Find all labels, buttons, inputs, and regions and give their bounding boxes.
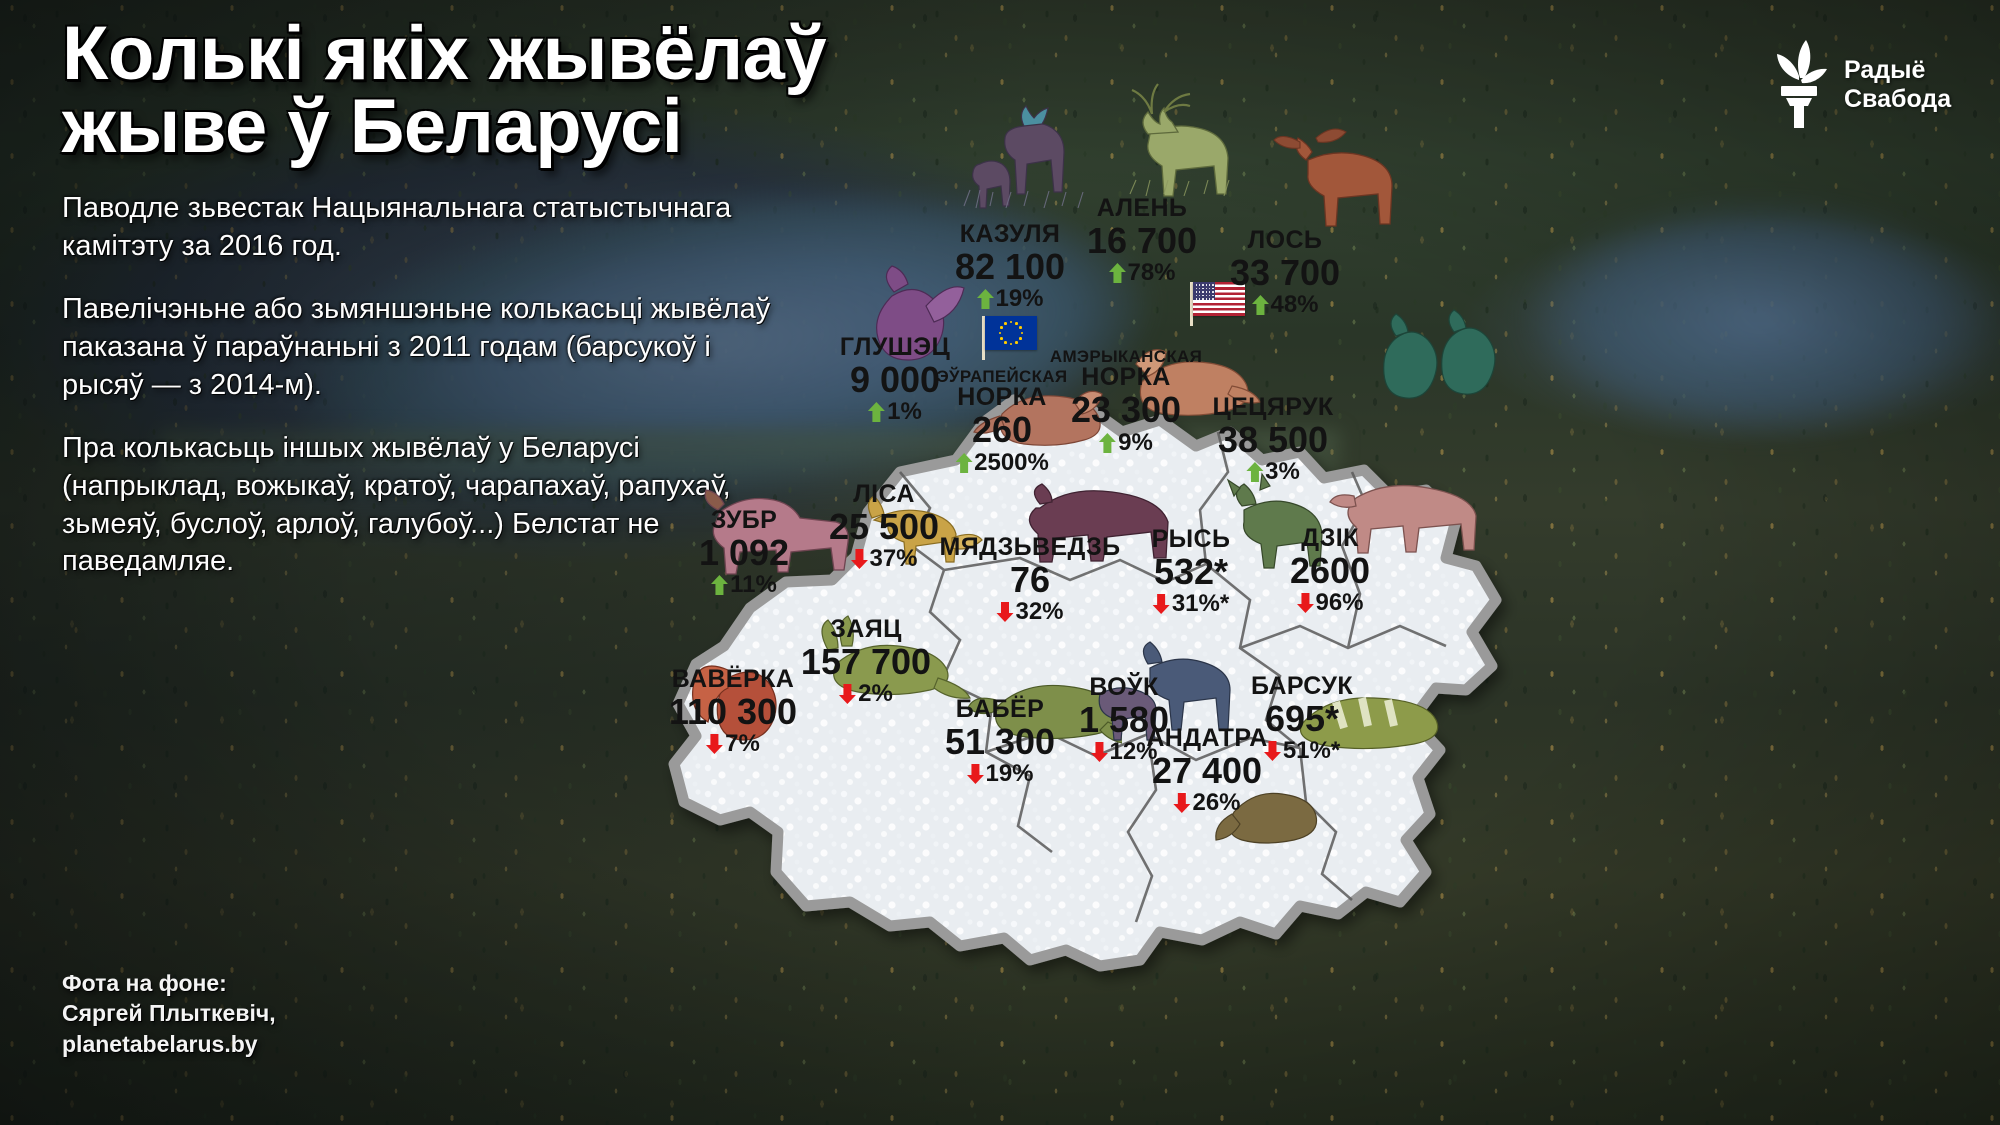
animal-count: 2600 [1290,553,1370,590]
animal-change: 3% [1212,460,1333,484]
arrow-down-icon [1296,593,1313,613]
credit-line-1: Фота на фоне: [62,968,582,998]
animal-name: МЯДЗЬВЕДЗЬ [939,535,1120,561]
animal-label-vavyorka: ВАВЁРКА110 3007% [669,667,797,757]
animal-name: ЗАЯЦ [801,617,931,643]
credit-line-3: planetabelarus.by [62,1029,582,1059]
animal-change-value: 2% [858,682,893,706]
animal-name: АНДАТРА [1146,726,1267,752]
animal-change-value: 3% [1265,460,1300,484]
animal-count: 157 700 [801,644,931,681]
animal-change: 78% [1087,261,1197,285]
animal-name: ГЛУШЭЦ [840,335,950,361]
animal-count: 110 300 [669,694,797,731]
animal-change: 32% [939,600,1120,624]
animal-count: 532* [1152,554,1231,591]
animal-name: ЛІСА [829,482,939,508]
animal-change-value: 37% [869,547,917,571]
credit-line-2: Сяргей Плыткевіч, [62,998,582,1028]
animal-count: 38 500 [1212,422,1333,459]
animal-change: 9% [1050,431,1202,455]
animal-change: 2% [801,682,931,706]
arrow-up-icon [1246,462,1263,482]
animal-label-barsuk: БАРСУК695*51%* [1251,674,1353,764]
photo-credit: Фота на фоне: Сяргей Плыткевіч, planetab… [62,968,582,1059]
animal-change-value: 19% [985,762,1033,786]
animal-count: 9 000 [840,362,950,399]
animal-count: 16 700 [1087,223,1197,260]
animal-count: 27 400 [1146,753,1267,790]
arrow-down-icon [1264,741,1281,761]
animal-change: 51%* [1251,739,1353,763]
animal-change-value: 26% [1192,791,1240,815]
infographic-canvas: Колькі якіх жывёлаў жыве ў Беларусі Паво… [0,0,2000,1125]
arrow-up-icon [1099,433,1116,453]
animal-label-lisa: ЛІСА25 50037% [829,482,939,572]
animal-change-value: 51%* [1283,739,1340,763]
animal-label-los: ЛОСЬ33 70048% [1230,228,1340,318]
animal-label-zubr: ЗУБР1 09211% [699,508,789,598]
animal-label-norka-eu: ЭЎРАПЕЙСКАЯНОРКА2602500% [937,368,1068,475]
animal-name: ЛОСЬ [1230,228,1340,254]
animal-name: ЦЕЦЯРУК [1212,395,1333,421]
animal-change-value: 78% [1127,261,1175,285]
animal-change: 2500% [937,451,1068,475]
animal-label-hlushets: ГЛУШЭЦ9 0001% [840,335,950,425]
arrow-down-icon [996,602,1013,622]
animal-change-value: 7% [725,732,760,756]
animal-change: 48% [1230,293,1340,317]
animal-name: БАБЁР [945,697,1055,723]
animal-change-value: 11% [730,573,777,597]
animal-name: ВОЎК [1079,675,1169,701]
animal-change: 96% [1290,591,1370,615]
animal-count: 51 300 [945,724,1055,761]
animal-change: 11% [699,573,789,597]
arrow-down-icon [850,549,867,569]
headline-line-2: жыве ў Беларусі [62,84,682,169]
arrow-up-icon [1108,263,1125,283]
animal-label-kazulya: КАЗУЛЯ82 10019% [955,222,1065,312]
arrow-up-icon [976,289,993,309]
animal-change: 7% [669,732,797,756]
animal-change-value: 31%* [1172,592,1229,616]
animal-name: ДЗІК [1290,526,1370,552]
roe-deer-illustration [928,86,1108,226]
animal-change: 26% [1146,791,1267,815]
arrow-down-icon [1153,594,1170,614]
animal-count: 33 700 [1230,255,1340,292]
animal-change: 19% [955,287,1065,311]
animal-change-value: 1% [887,400,922,424]
arrow-down-icon [706,734,723,754]
animal-count: 695* [1251,701,1353,738]
animal-change: 37% [829,547,939,571]
arrow-down-icon [839,684,856,704]
animal-label-andatra: АНДАТРА27 40026% [1146,726,1267,816]
animal-label-norka-us: АМЭРЫКАНСКАЯНОРКА23 3009% [1050,348,1202,455]
animal-name: БАРСУК [1251,674,1353,700]
animal-label-tsetseruk: ЦЕЦЯРУК38 5003% [1212,395,1333,485]
animal-name: ЗУБР [699,508,789,534]
animal-name: РЫСЬ [1152,527,1231,553]
animal-name: ВАВЁРКА [669,667,797,693]
animal-count: 76 [939,562,1120,599]
arrow-down-icon [1090,742,1107,762]
animal-label-myadzvedz: МЯДЗЬВЕДЗЬ7632% [939,535,1120,625]
animal-change-value: 9% [1118,431,1153,455]
animal-change: 1% [840,400,950,424]
animal-change-value: 2500% [974,451,1049,475]
animal-label-babyor: БАБЁР51 30019% [945,697,1055,787]
animal-name: НОРКА [1050,365,1202,391]
arrow-down-icon [1173,793,1190,813]
animal-label-rys: РЫСЬ532*31%* [1152,527,1231,617]
black-grouse-illustration [1356,292,1526,422]
animal-change-value: 19% [995,287,1043,311]
animal-count: 23 300 [1050,392,1202,429]
animal-change-value: 48% [1270,293,1318,317]
animal-label-zayats: ЗАЯЦ157 7002% [801,617,931,707]
animal-name: КАЗУЛЯ [955,222,1065,248]
moose-illustration [1260,98,1430,238]
animal-change: 19% [945,762,1055,786]
animal-change-value: 96% [1315,591,1363,615]
arrow-up-icon [711,575,728,595]
animal-name: АЛЕНЬ [1087,196,1197,222]
arrow-up-icon [1251,295,1268,315]
animal-count: 82 100 [955,249,1065,286]
arrow-down-icon [966,764,983,784]
arrow-up-icon [955,453,972,473]
animal-label-alen: АЛЕНЬ16 70078% [1087,196,1197,286]
animal-count: 1 092 [699,535,789,572]
animal-count: 25 500 [829,509,939,546]
animal-count: 260 [937,412,1068,449]
arrow-up-icon [868,402,885,422]
animal-change: 31%* [1152,592,1231,616]
eu-flag-icon [982,316,1034,350]
animal-change-value: 32% [1015,600,1063,624]
animal-label-dzik: ДЗІК260096% [1290,526,1370,616]
animal-name: НОРКА [937,385,1068,411]
